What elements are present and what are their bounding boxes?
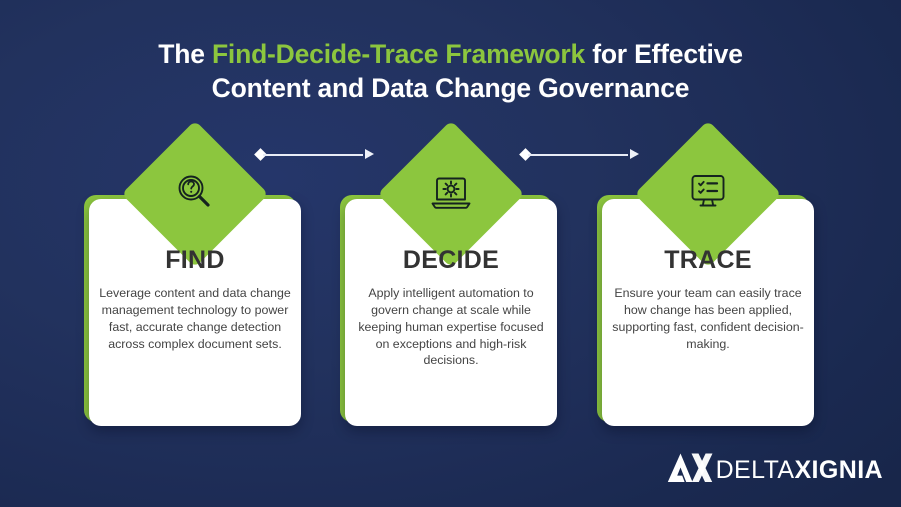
card-title: FIND bbox=[99, 246, 291, 275]
card-description: Apply intelligent automation to govern c… bbox=[355, 285, 547, 369]
infographic-canvas: The Find-Decide-Trace Framework for Effe… bbox=[0, 0, 901, 507]
card-title: DECIDE bbox=[355, 246, 547, 275]
title-line-1: The Find-Decide-Trace Framework for Effe… bbox=[0, 38, 901, 72]
card-decide: DECIDE Apply intelligent automation to g… bbox=[340, 142, 562, 438]
page-title: The Find-Decide-Trace Framework for Effe… bbox=[0, 38, 901, 106]
pillar-cards: FIND Leverage content and data change ma… bbox=[0, 142, 901, 442]
title-accent: Find-Decide-Trace Framework bbox=[212, 39, 585, 69]
card-trace-content: TRACE Ensure your team can easily trace … bbox=[602, 199, 814, 426]
deltaxignia-mark-icon bbox=[667, 452, 713, 489]
card-description: Ensure your team can easily trace how ch… bbox=[612, 285, 804, 352]
brand-logo: DELTAXIGNIA bbox=[667, 452, 883, 489]
card-description: Leverage content and data change managem… bbox=[99, 285, 291, 352]
brand-word-delta: DELTA bbox=[716, 456, 795, 484]
brand-word-xignia: XIGNIA bbox=[794, 456, 883, 484]
card-find: FIND Leverage content and data change ma… bbox=[84, 142, 306, 438]
card-title: TRACE bbox=[612, 246, 804, 275]
title-prefix: The bbox=[158, 39, 212, 69]
title-line-2: Content and Data Change Governance bbox=[0, 72, 901, 106]
title-suffix: for Effective bbox=[585, 39, 743, 69]
card-decide-content: DECIDE Apply intelligent automation to g… bbox=[345, 199, 557, 426]
brand-logo-text: DELTAXIGNIA bbox=[716, 458, 883, 483]
card-trace: TRACE Ensure your team can easily trace … bbox=[597, 142, 819, 438]
card-find-content: FIND Leverage content and data change ma… bbox=[89, 199, 301, 426]
